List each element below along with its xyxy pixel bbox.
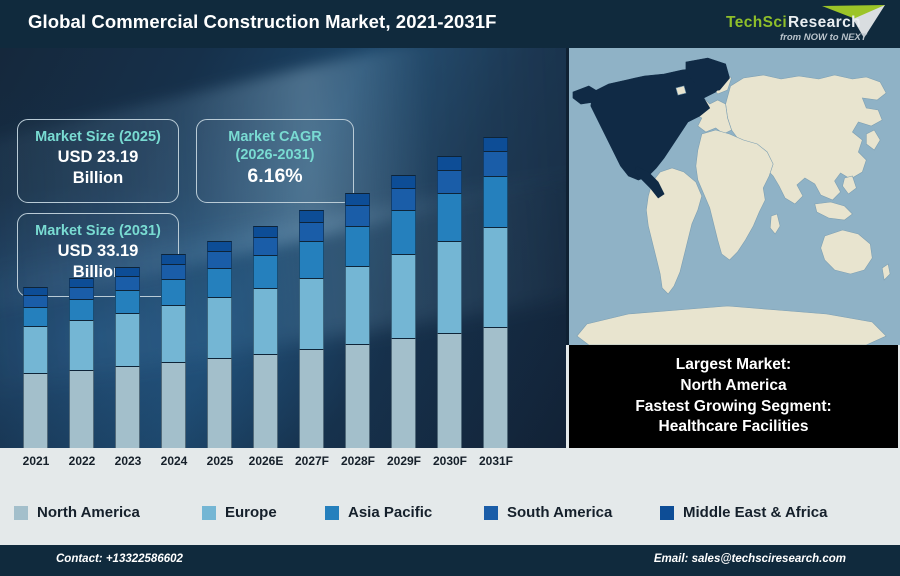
fastest-segment-title: Fastest Growing Segment: <box>635 397 831 418</box>
bar-2029F[interactable] <box>391 175 416 448</box>
bar-2021[interactable] <box>23 287 48 448</box>
bar-segment <box>207 268 232 297</box>
bar-segment <box>161 264 186 279</box>
bar-2027F[interactable] <box>299 210 324 448</box>
bar-segment <box>23 326 48 373</box>
bar-segment <box>391 254 416 339</box>
bar-segment <box>299 241 324 278</box>
bar-2026E[interactable] <box>253 226 278 448</box>
iceland <box>676 86 686 95</box>
bar-segment <box>207 358 232 448</box>
svg-text:TechSci: TechSci <box>726 14 787 31</box>
bar-segment <box>207 251 232 268</box>
bar-segment <box>483 327 508 448</box>
legend-item-europe[interactable]: Europe <box>202 504 277 521</box>
highlights-box: Largest Market: North America Fastest Gr… <box>569 345 898 448</box>
legend-item-asia-pacific[interactable]: Asia Pacific <box>325 504 432 521</box>
bar-segment <box>391 188 416 210</box>
infographic-root: Global Commercial Construction Market, 2… <box>0 0 900 576</box>
bar-2025[interactable] <box>207 241 232 448</box>
bar-segment <box>437 333 462 448</box>
stacked-bar-chart <box>0 48 566 448</box>
bar-2022[interactable] <box>69 278 94 448</box>
x-axis-label-2030F: 2030F <box>427 454 473 468</box>
world-map <box>566 48 900 345</box>
bar-segment <box>23 295 48 307</box>
footer-bar: Contact: +13322586602 Email: sales@techs… <box>0 545 900 576</box>
legend-item-north-america[interactable]: North America <box>14 504 140 521</box>
fastest-segment-value: Healthcare Facilities <box>659 417 809 438</box>
legend-swatch <box>325 506 339 520</box>
bar-segment <box>69 370 94 448</box>
bar-segment <box>253 354 278 448</box>
bar-segment <box>345 226 370 266</box>
bar-2031F[interactable] <box>483 137 508 448</box>
bar-segment <box>23 287 48 295</box>
legend-item-south-america[interactable]: South America <box>484 504 612 521</box>
bar-2024[interactable] <box>161 254 186 448</box>
legend-label: South America <box>507 504 612 521</box>
legend-label: Europe <box>225 504 277 521</box>
page-title: Global Commercial Construction Market, 2… <box>28 11 497 33</box>
bar-segment <box>69 299 94 320</box>
legend-swatch <box>660 506 674 520</box>
legend-label: Asia Pacific <box>348 504 432 521</box>
legend-item-middle-east-africa[interactable]: Middle East & Africa <box>660 504 827 521</box>
bar-segment <box>483 137 508 151</box>
techsci-research-logo: TechSci Research from NOW to NEXT <box>722 2 892 46</box>
bar-segment <box>23 307 48 326</box>
bar-segment <box>299 349 324 448</box>
bar-segment <box>345 266 370 344</box>
bar-segment <box>69 287 94 299</box>
bar-segment <box>207 241 232 251</box>
bar-segment <box>483 151 508 176</box>
bar-segment <box>207 297 232 358</box>
bar-segment <box>253 255 278 288</box>
bar-segment <box>483 176 508 227</box>
bar-segment <box>483 227 508 327</box>
bar-2028F[interactable] <box>345 193 370 448</box>
bar-2023[interactable] <box>115 267 140 448</box>
legend-swatch <box>202 506 216 520</box>
bar-segment <box>345 193 370 205</box>
bar-segment <box>253 288 278 354</box>
bar-segment <box>345 205 370 226</box>
world-map-graphic <box>569 48 900 345</box>
bar-segment <box>115 366 140 448</box>
legend-label: North America <box>37 504 140 521</box>
chart-legend: North AmericaEuropeAsia PacificSouth Ame… <box>0 480 900 545</box>
bar-segment <box>161 254 186 264</box>
svg-text:from NOW to NEXT: from NOW to NEXT <box>780 32 868 43</box>
bar-segment <box>437 156 462 170</box>
bar-segment <box>69 278 94 287</box>
x-axis-label-2027F: 2027F <box>289 454 335 468</box>
bar-segment <box>115 267 140 276</box>
bar-segment <box>299 278 324 349</box>
x-axis-label-2025: 2025 <box>197 454 243 468</box>
bar-segment <box>115 290 140 313</box>
legend-label: Middle East & Africa <box>683 504 827 521</box>
bar-segment <box>253 226 278 237</box>
x-axis-label-2023: 2023 <box>105 454 151 468</box>
x-axis-label-2024: 2024 <box>151 454 197 468</box>
legend-swatch <box>484 506 498 520</box>
bar-segment <box>115 276 140 290</box>
bar-2030F[interactable] <box>437 156 462 448</box>
x-axis-label-2031F: 2031F <box>473 454 519 468</box>
bar-segment <box>437 193 462 241</box>
footer-contact: Contact: +13322586602 <box>56 553 183 565</box>
bar-segment <box>391 338 416 448</box>
bar-segment <box>299 210 324 222</box>
svg-text:Research: Research <box>788 14 861 31</box>
bar-segment <box>115 313 140 366</box>
x-axis-label-2022: 2022 <box>59 454 105 468</box>
largest-market-title: Largest Market: <box>676 355 791 376</box>
header-bar: Global Commercial Construction Market, 2… <box>0 0 900 48</box>
bar-segment <box>437 241 462 333</box>
x-axis-label-2021: 2021 <box>13 454 59 468</box>
bar-segment <box>69 320 94 370</box>
x-axis-label-2028F: 2028F <box>335 454 381 468</box>
largest-market-value: North America <box>680 376 786 397</box>
x-axis-label-2026E: 2026E <box>243 454 289 468</box>
footer-email: Email: sales@techsciresearch.com <box>654 553 846 565</box>
bar-segment <box>161 362 186 448</box>
legend-swatch <box>14 506 28 520</box>
x-axis-label-2029F: 2029F <box>381 454 427 468</box>
bar-segment <box>161 305 186 362</box>
x-axis: 202120222023202420252026E2027F2028F2029F… <box>0 448 566 480</box>
bar-segment <box>299 222 324 241</box>
bar-segment <box>345 344 370 448</box>
bar-segment <box>437 170 462 194</box>
bar-segment <box>161 279 186 305</box>
bar-segment <box>391 175 416 188</box>
bar-segment <box>253 237 278 255</box>
chart-panel: Market Size (2025) USD 23.19 Billion Mar… <box>0 48 566 448</box>
logo-graphic: TechSci Research from NOW to NEXT <box>722 2 892 46</box>
bar-segment <box>23 373 48 448</box>
bar-segment <box>391 210 416 254</box>
